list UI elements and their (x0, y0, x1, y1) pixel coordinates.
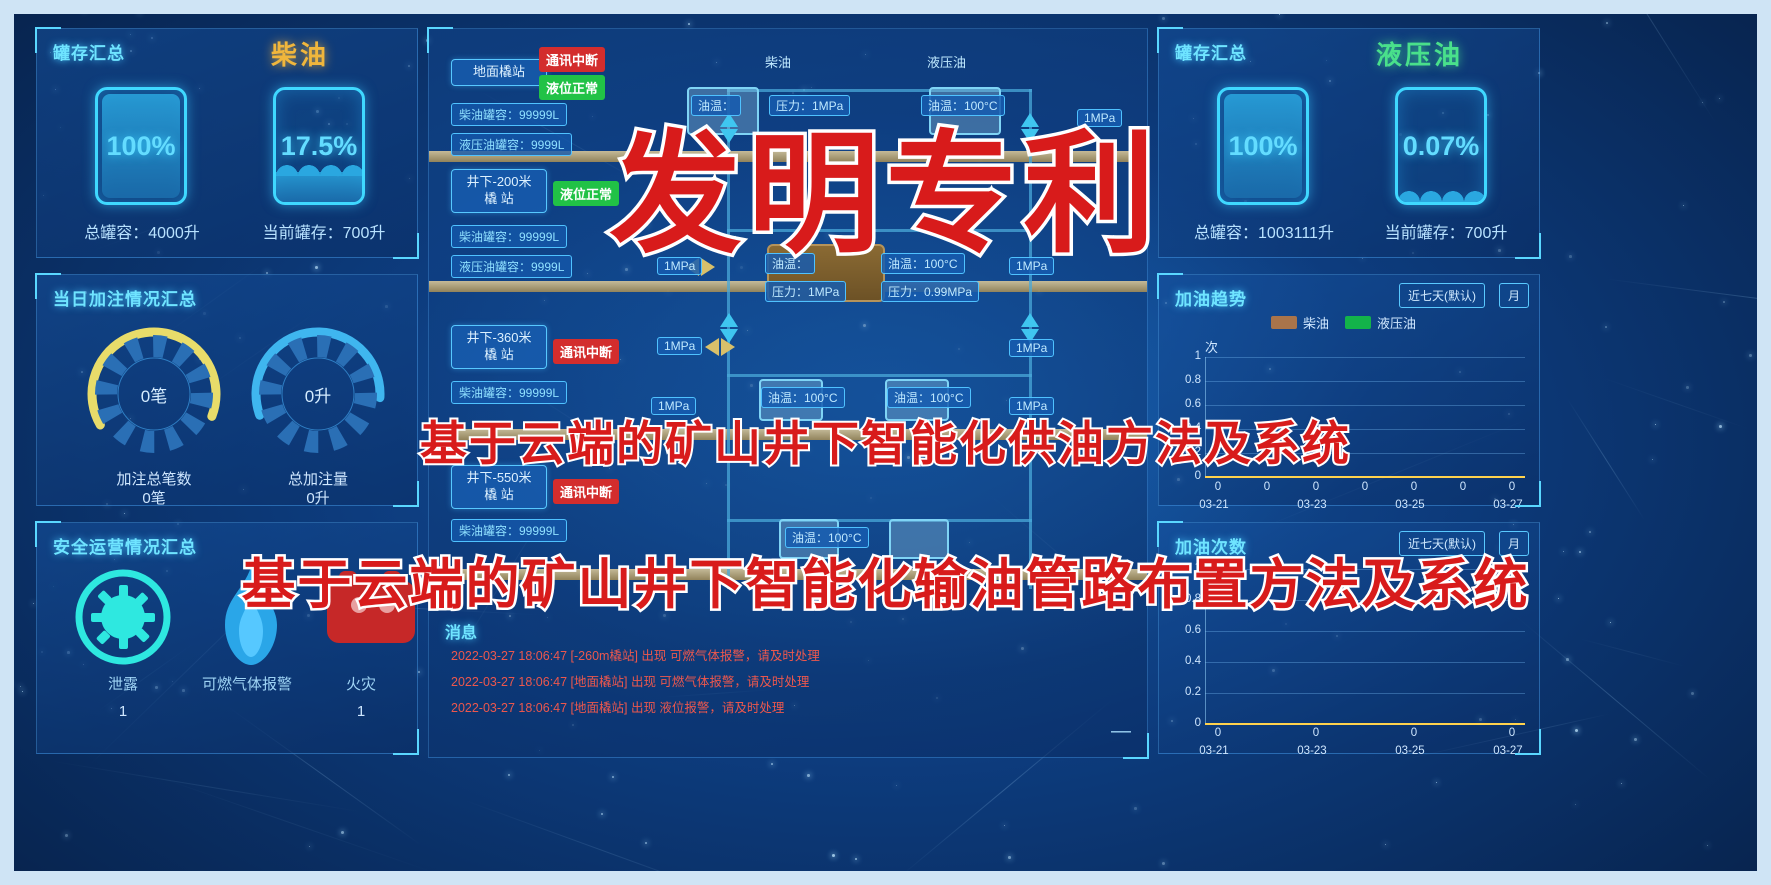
left-gauge-current-stock: 17.5% (273, 87, 365, 205)
legend-item-hydraulic: 液压油 (1345, 313, 1416, 332)
right-gauge-current-stock: 0.07% (1395, 87, 1487, 205)
ytick: 0.6 (1175, 624, 1201, 636)
point-label: 0 (1440, 481, 1486, 493)
tank-percent-value: 0.07% (1398, 90, 1484, 202)
point-label: 0 (1293, 481, 1339, 493)
station-label-surface-skid[interactable]: 地面橇站 (451, 59, 547, 86)
safety-summary-title: 安全运营情况汇总 (53, 533, 197, 558)
xtick: 03-25 (1387, 499, 1433, 511)
xtick: 03-23 (1289, 499, 1335, 511)
watermark-patent-title: 发明专利 (610, 88, 1162, 279)
message-log-line: 2022-03-27 18:06:47 [-260m橇站] 出现 可燃气体报警，… (451, 645, 820, 664)
pipe-horizontal-c (727, 374, 1032, 377)
point-label: 0 (1293, 727, 1339, 739)
panel-refuel-summary: 当日加注情况汇总 0笔 加注总笔数 0笔 0升 总加注量 0升 (36, 274, 418, 506)
station-tag-surface-hydraulic: 液压油罐容：9999L (451, 133, 572, 156)
station-tag-550-diesel: 柴油罐容：99999L (451, 519, 567, 542)
station-tag-200-hydraulic: 液压油罐容：9999L (451, 255, 572, 278)
right-gauge-total-capacity: 100% (1217, 87, 1309, 205)
point-label: 0 (1195, 727, 1241, 739)
legend-swatch-hydraulic (1345, 316, 1371, 329)
left-tank-summary-title: 罐存汇总 (53, 39, 125, 64)
refuel-trend-legend: 柴油 液压油 (1271, 313, 1416, 332)
xtick: 03-21 (1191, 745, 1237, 757)
schematic-label-pressure-3: 压力：0.99MPa (881, 281, 979, 302)
right-tank-summary-title: 罐存汇总 (1175, 39, 1247, 64)
safety-value-fire: 1 (301, 703, 421, 720)
series-line-zero (1205, 723, 1525, 725)
point-label: 0 (1195, 481, 1241, 493)
station-tag-surface-diesel: 柴油罐容：99999L (451, 103, 567, 126)
ytick: 0.2 (1175, 686, 1201, 698)
legend-swatch-diesel (1271, 316, 1297, 329)
pressure-tag-4: 1MPa (1009, 339, 1054, 357)
right-total-capacity-caption: 总罐容：1003111升 (1169, 219, 1359, 243)
dial-label-volume: 总加注量 (288, 471, 348, 488)
watermark-patent-line-2: 基于云端的矿山井下智能化输油管路布置方法及系统 (242, 540, 1530, 619)
right-oil-type-label: 液压油 (1376, 35, 1463, 72)
left-gauge-total-capacity: 100% (95, 87, 187, 205)
tank-percent-value: 100% (98, 90, 184, 202)
tank-percent-value: 100% (1220, 90, 1306, 202)
station-badge-550-comm: 通讯中断 (553, 479, 619, 504)
left-current-stock-caption: 当前罐存：700升 (229, 219, 419, 243)
refuel-trend-chart-title: 加油趋势 (1175, 285, 1247, 310)
pressure-tag-2: 1MPa (657, 337, 702, 355)
schematic-label-diesel: 柴油 (759, 51, 797, 72)
point-label: 0 (1391, 727, 1437, 739)
refuel-summary-title: 当日加注情况汇总 (53, 285, 197, 310)
point-label: 0 (1244, 481, 1290, 493)
left-oil-type-label: 柴油 (271, 35, 329, 72)
legend-item-diesel: 柴油 (1271, 313, 1329, 332)
panel-right-tank-summary: 罐存汇总 液压油 100% 总罐容：1003111升 0.07% 当前罐存：70… (1158, 28, 1540, 258)
ytick: 0.8 (1175, 374, 1201, 386)
message-log-line: 2022-03-27 18:06:47 [地面橇站] 出现 液位报警，请及时处理 (451, 697, 784, 716)
range-button-seven-days[interactable]: 近七天(默认) (1399, 283, 1485, 308)
ytick: 0.4 (1175, 655, 1201, 667)
range-button-month[interactable]: 月 (1499, 283, 1529, 308)
xtick: 03-23 (1289, 745, 1335, 757)
xtick: 03-25 (1387, 745, 1433, 757)
station-badge-surface-level: 液位正常 (539, 75, 605, 100)
dial-refuel-count: 0笔 (79, 319, 229, 469)
dial-sub-count: 0笔 (142, 490, 165, 507)
dial-sub-volume: 0升 (306, 490, 329, 507)
safety-label-gas: 可燃气体报警 (187, 673, 307, 694)
ytick: 1 (1175, 350, 1201, 362)
tank-percent-value: 17.5% (276, 90, 362, 202)
pipe-horizontal-d (727, 519, 1032, 522)
safety-label-leak: 泄露 (63, 673, 183, 694)
watermark-patent-line-1: 基于云端的矿山井下智能化供油方法及系统 (420, 405, 1351, 474)
safety-value-leak: 1 (63, 703, 183, 720)
refuel-trend-ylabel: 次 (1205, 337, 1218, 356)
dashboard-root: 罐存汇总 柴油 100% 总罐容：4000升 17.5% 当前罐存：700升 当… (0, 0, 1771, 885)
dial-label-count: 加注总笔数 (116, 471, 191, 488)
safety-label-fire: 火灾 (301, 673, 421, 694)
panel-left-tank-summary: 罐存汇总 柴油 100% 总罐容：4000升 17.5% 当前罐存：700升 (36, 28, 418, 258)
series-line-zero (1205, 476, 1525, 478)
left-total-capacity-caption: 总罐容：4000升 (47, 219, 237, 243)
message-log-title: 消息 (445, 619, 477, 643)
gear-leak-icon (75, 569, 171, 670)
point-label: 0 (1342, 481, 1388, 493)
dial-value: 0升 (243, 319, 393, 469)
station-badge-360-comm: 通讯中断 (553, 339, 619, 364)
xtick: 03-21 (1191, 499, 1237, 511)
station-label-down-200[interactable]: 井下-200米 橇 站 (451, 169, 547, 213)
legend-label-hydraulic: 液压油 (1377, 313, 1416, 332)
station-tag-200-diesel: 柴油罐容：99999L (451, 225, 567, 248)
station-badge-surface-comm: 通讯中断 (539, 47, 605, 72)
schematic-label-pressure-2: 压力：1MPa (765, 281, 846, 302)
station-tag-360-diesel: 柴油罐容：99999L (451, 381, 567, 404)
station-label-down-360[interactable]: 井下-360米 橇 站 (451, 325, 547, 369)
legend-label-diesel: 柴油 (1303, 313, 1329, 332)
point-label: 0 (1391, 481, 1437, 493)
right-current-stock-caption: 当前罐存：700升 (1351, 219, 1541, 243)
dial-value: 0笔 (79, 319, 229, 469)
message-log-line: 2022-03-27 18:06:47 [地面橇站] 出现 可燃气体报警，请及时… (451, 671, 809, 690)
dial-refuel-volume: 0升 (243, 319, 393, 469)
schematic-label-hydraulic: 液压油 (921, 51, 972, 72)
